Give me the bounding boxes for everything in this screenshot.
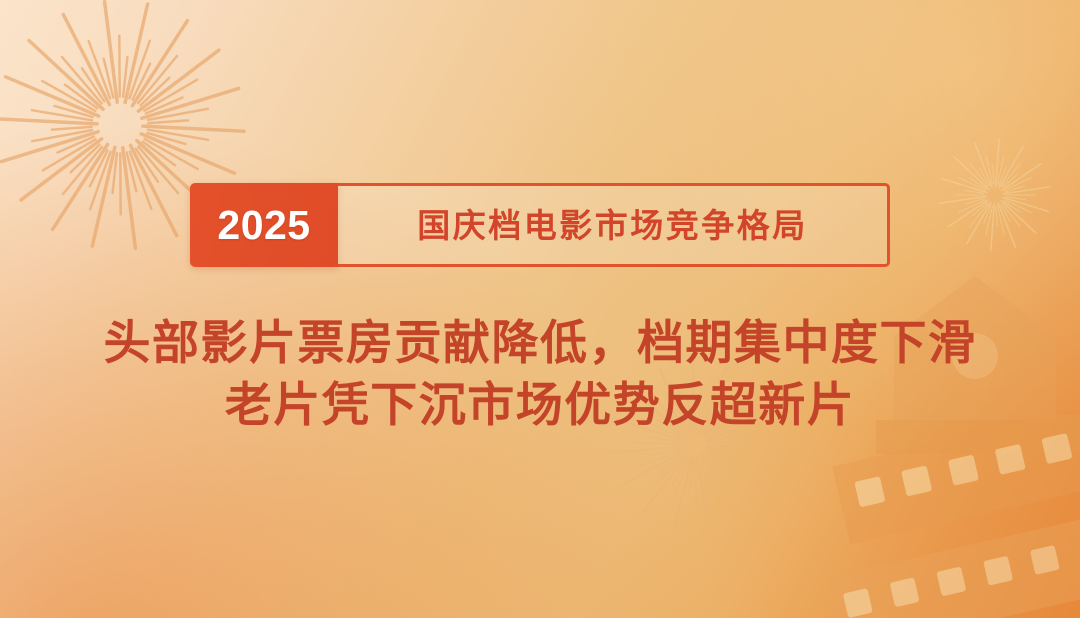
badge-headline-box: 国庆档电影市场竞争格局 [338, 183, 890, 267]
film-strip-lower [830, 519, 1080, 618]
badge-year-block: 2025 [190, 183, 338, 267]
poster-canvas: 2025 国庆档电影市场竞争格局 头部影片票房贡献降低，档期集中度下滑 老片凭下… [0, 0, 1080, 618]
headline-line-2: 老片凭下沉市场优势反超新片 [0, 374, 1080, 436]
badge-year-label: 2025 [217, 205, 310, 246]
badge-headline-label: 国庆档电影市场竞争格局 [417, 209, 808, 242]
film-strips-icon [830, 415, 1080, 618]
title-badge-bar: 2025 国庆档电影市场竞争格局 [190, 183, 890, 267]
firework-burst-top-right-icon [930, 130, 1060, 260]
main-headline: 头部影片票房贡献降低，档期集中度下滑 老片凭下沉市场优势反超新片 [0, 312, 1080, 436]
headline-line-1: 头部影片票房贡献降低，档期集中度下滑 [0, 312, 1080, 374]
